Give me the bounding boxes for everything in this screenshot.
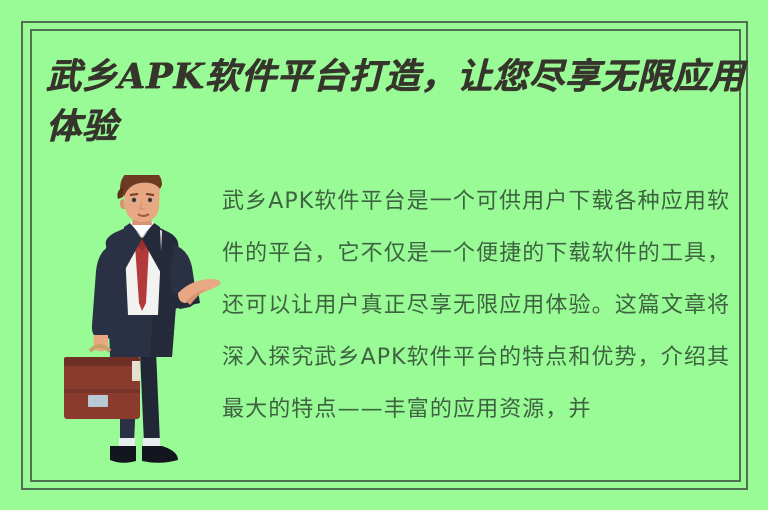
eye-right-shape xyxy=(148,198,152,202)
eye-left-shape xyxy=(132,198,136,202)
body-paragraph: 武乡APK软件平台是一个可供用户下载各种应用软件的平台，它不仅是一个便捷的下载软… xyxy=(222,176,750,436)
sock-left-shape xyxy=(119,438,135,446)
ear-shape xyxy=(120,199,125,209)
eyebrow-right-shape xyxy=(146,194,154,195)
businessman-illustration xyxy=(62,175,222,480)
briefcase-label-shape xyxy=(88,395,108,407)
briefcase-shape xyxy=(64,357,140,419)
briefcase-top-shape xyxy=(64,357,140,366)
briefcase-seam-shape xyxy=(64,389,140,393)
leg-right-shape xyxy=(140,350,160,443)
shoe-left-shape xyxy=(110,446,136,463)
poster-canvas: 武乡APK软件平台打造，让您尽享无限应用体验 武乡APK软件平台是一个可供用户下… xyxy=(0,0,768,510)
sock-right-shape xyxy=(143,438,160,446)
briefcase-paper-shape xyxy=(132,361,140,381)
shoe-right-shape xyxy=(142,446,178,463)
arm-left-shape xyxy=(92,247,116,339)
eyebrow-left-shape xyxy=(130,194,138,195)
page-title: 武乡APK软件平台打造，让您尽享无限应用体验 xyxy=(46,52,768,152)
